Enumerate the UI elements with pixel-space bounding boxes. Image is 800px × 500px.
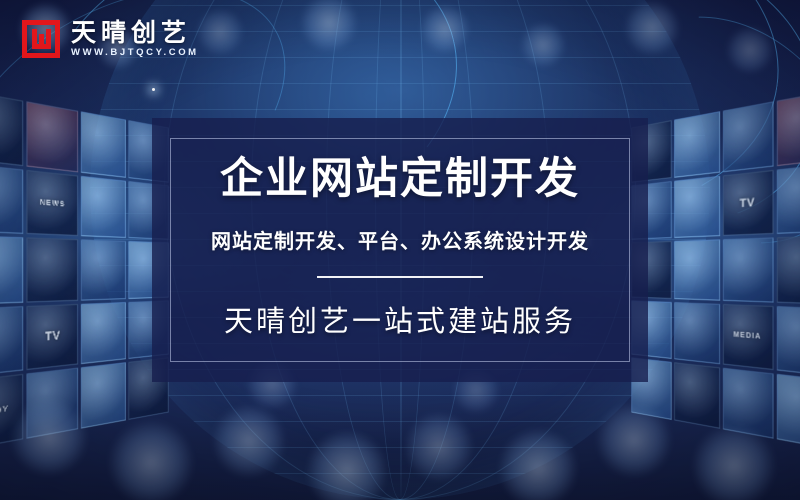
- tianqing-logo-mark-icon: [22, 20, 60, 58]
- page-tagline: 天晴创艺一站式建站服务: [224, 298, 576, 340]
- brand-logo[interactable]: 天晴创艺 WWW.BJTQCY.COM: [0, 0, 250, 78]
- panel-content: 企业网站定制开发 网站定制开发、平台、办公系统设计开发 天晴创艺一站式建站服务: [152, 118, 648, 382]
- page-subtitle: 网站定制开发、平台、办公系统设计开发: [211, 225, 589, 254]
- page-title: 企业网站定制开发: [220, 156, 580, 203]
- brand-text: 天晴创艺 WWW.BJTQCY.COM: [71, 21, 199, 58]
- promo-banner: NEWSTVLOGY TVMEDIA 天晴创艺 WWW.BJTQCY.COM 企…: [0, 0, 800, 500]
- headline-panel: 企业网站定制开发 网站定制开发、平台、办公系统设计开发 天晴创艺一站式建站服务: [152, 118, 648, 382]
- brand-name-cn: 天晴创艺: [71, 21, 199, 46]
- brand-website: WWW.BJTQCY.COM: [71, 48, 199, 58]
- title-divider: [317, 276, 483, 278]
